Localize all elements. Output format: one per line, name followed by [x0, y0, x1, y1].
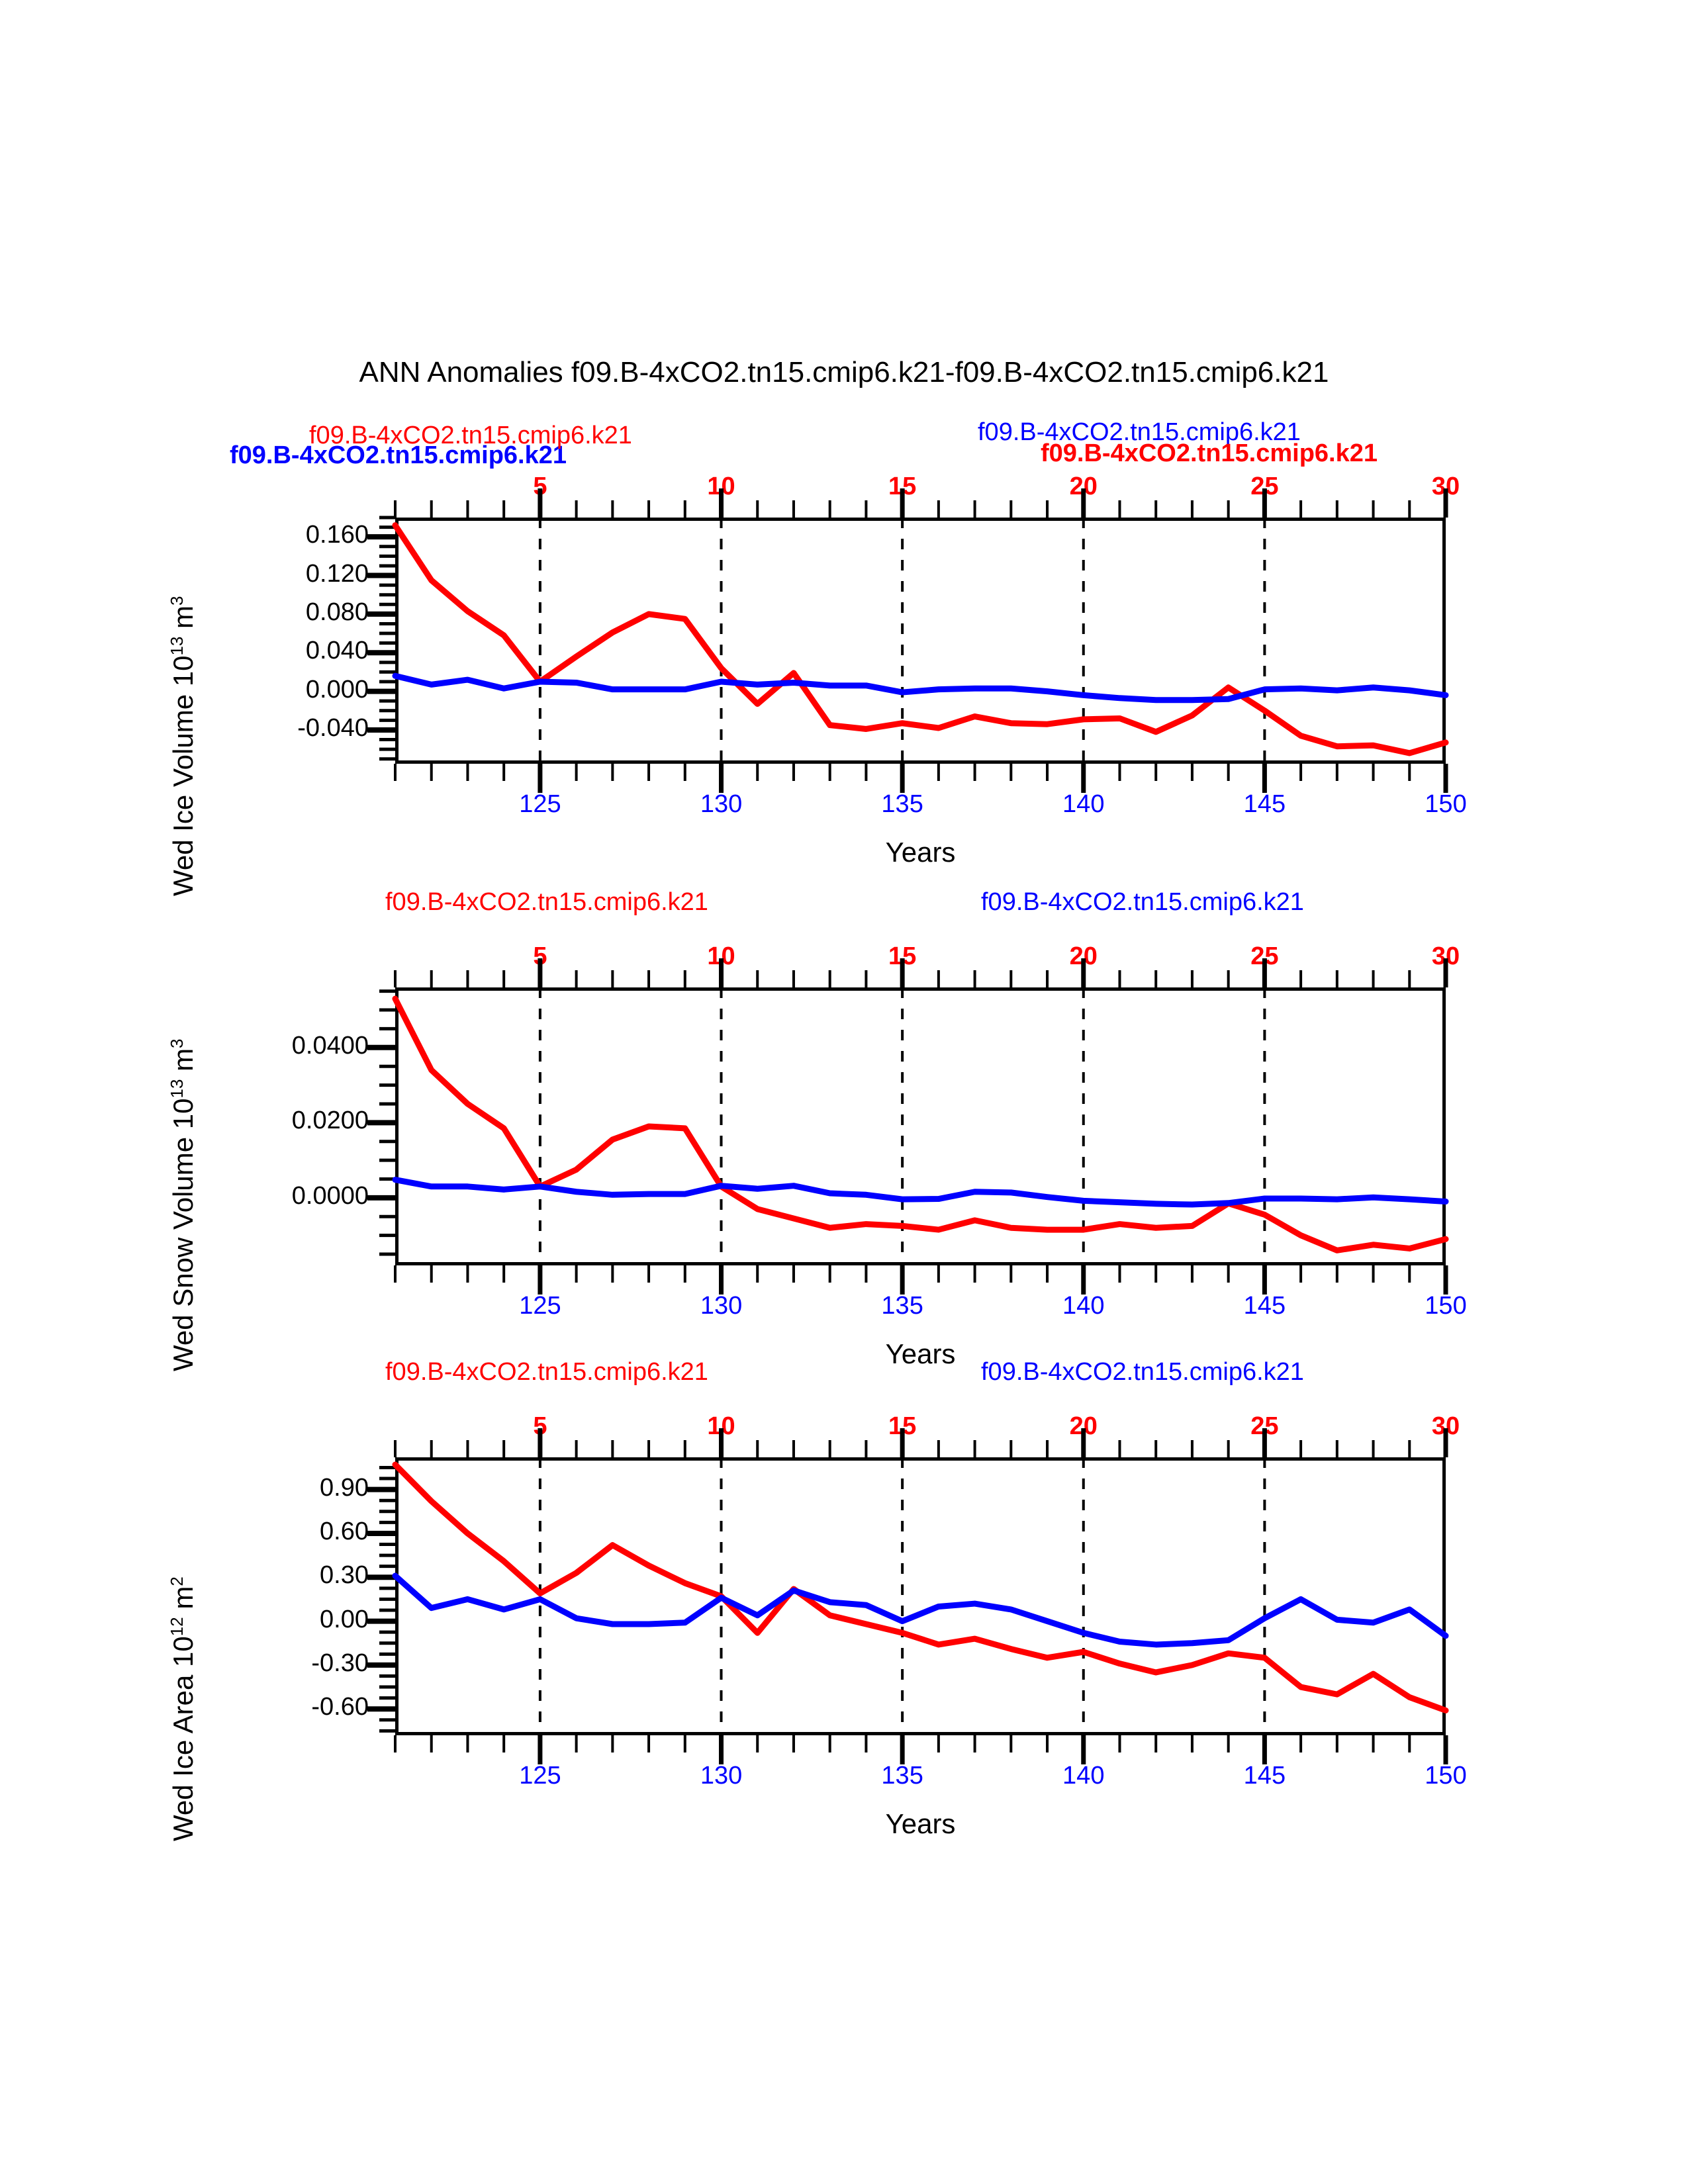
- panel-wed-ice-area-plot-svg: [0, 0, 1688, 2184]
- chart-page: ANN Anomalies f09.B-4xCO2.tn15.cmip6.k21…: [0, 0, 1688, 2184]
- panel-wed-ice-area-series-red: [395, 1465, 1446, 1710]
